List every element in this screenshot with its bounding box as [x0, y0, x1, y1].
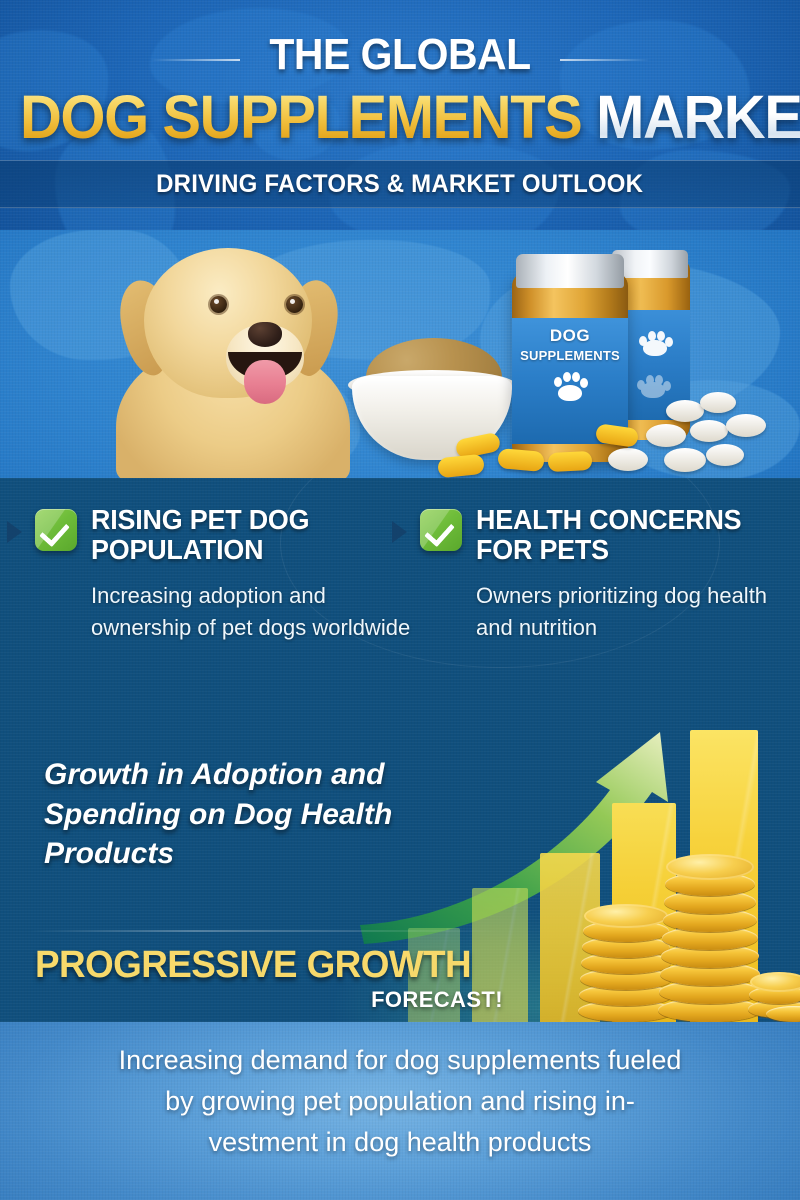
feature-title: HEALTH CONCERNS FOR PETS [476, 505, 787, 564]
pill [666, 400, 704, 422]
feature-rising-pet-dog-population: RISING PET DOG POPULATION Increasing ado… [35, 505, 415, 643]
footer-line-1: Increasing demand for dog supplements fu… [30, 1040, 770, 1081]
dog-illustration [108, 242, 358, 480]
pill [700, 392, 736, 413]
footer-line-2: by growing pet population and rising in- [30, 1081, 770, 1122]
feature-header: RISING PET DOG POPULATION [35, 505, 415, 564]
footer-line-3: vestment in dog health products [30, 1122, 770, 1163]
check-icon [35, 509, 77, 551]
title-eyebrow: THE GLOBAL [28, 30, 772, 80]
title-gold-part: DOG SUPPLEMENTS [20, 83, 581, 151]
feature-header: HEALTH CONCERNS FOR PETS [420, 505, 800, 564]
pill [726, 414, 766, 437]
bottle-cap-front [516, 254, 624, 288]
pill [608, 448, 648, 471]
header-banner: THE GLOBAL DOG SUPPLEMENTS MARKET DRIVIN… [0, 0, 800, 230]
dog-nose [248, 322, 282, 347]
title-white-part: MARKET [596, 83, 800, 151]
capsule [497, 448, 545, 472]
paw-print-icon [553, 371, 587, 401]
growth-headline: Growth in Adoption and Spending on Dog H… [44, 755, 474, 874]
infographic-poster: THE GLOBAL DOG SUPPLEMENTS MARKET DRIVIN… [0, 0, 800, 1200]
pill [664, 448, 706, 472]
page-subtitle: DRIVING FACTORS & MARKET OUTLOOK [156, 170, 643, 199]
progressive-growth-label: PROGRESSIVE GROWTH [35, 944, 501, 987]
dog-eye-left [210, 296, 227, 313]
footer-summary: Increasing demand for dog supplements fu… [30, 1040, 770, 1163]
divider-rule [30, 930, 500, 932]
feature-health-concerns-for-pets: HEALTH CONCERNS FOR PETS Owners prioriti… [420, 505, 800, 643]
capsule [548, 451, 593, 472]
chevron-right-icon [392, 521, 407, 543]
pill [706, 444, 744, 466]
dog-head [144, 248, 312, 398]
paw-print-icon [638, 330, 668, 356]
footer-banner: Increasing demand for dog supplements fu… [0, 1022, 800, 1200]
subtitle-band: DRIVING FACTORS & MARKET OUTLOOK [0, 160, 800, 208]
feature-title: RISING PET DOG POPULATION [91, 505, 402, 564]
coin-stack-right [748, 952, 800, 1022]
dog-eye-right [286, 296, 303, 313]
feature-body: Owners prioritizing dog health and nutri… [476, 580, 800, 642]
feature-body: Increasing adoption and ownership of pet… [91, 580, 415, 642]
page-title: DOG SUPPLEMENTS MARKET [20, 82, 780, 152]
paw-print-icon [636, 374, 664, 398]
check-icon [420, 509, 462, 551]
pill [646, 424, 686, 447]
bottle-label-line2: SUPPLEMENTS [520, 348, 620, 363]
chevron-right-icon [7, 521, 22, 543]
pill [690, 420, 728, 442]
dog-tongue [244, 360, 286, 404]
bottle-label-line1: DOG [550, 326, 590, 346]
forecast-label: FORECAST! [35, 987, 503, 1013]
